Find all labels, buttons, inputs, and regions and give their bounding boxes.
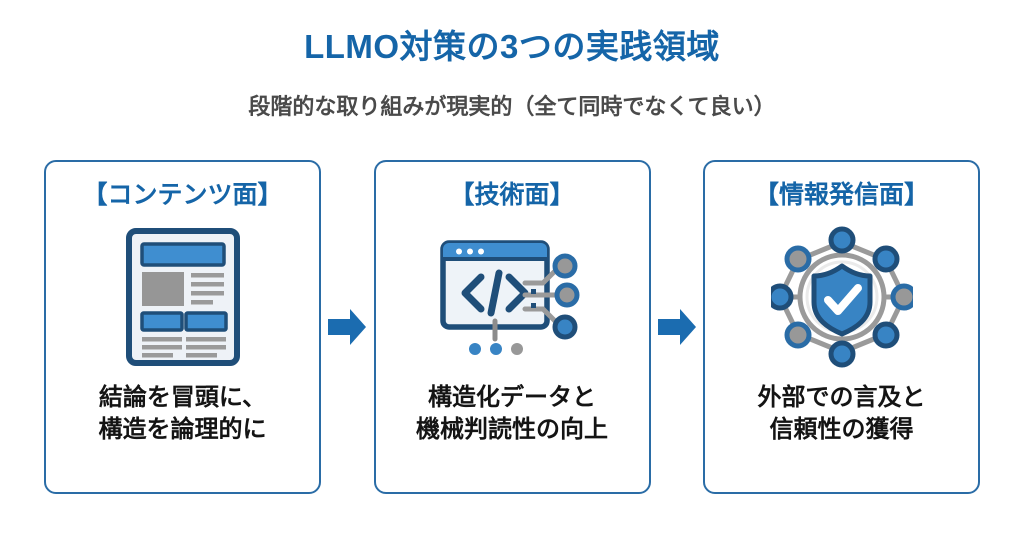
card-content-header: 【コンテンツ面】 xyxy=(82,180,282,210)
card-technical-caption: 構造化データと 機械判読性の向上 xyxy=(416,382,608,447)
card-content[interactable]: 【コンテンツ面】 xyxy=(44,160,321,494)
card-publicity-header: 【情報発信面】 xyxy=(754,180,929,210)
card-publicity[interactable]: 【情報発信面】 xyxy=(703,160,980,494)
page-title: LLMO対策の3つの実践領域 xyxy=(0,28,1024,66)
card-technical[interactable]: 【技術面】 xyxy=(374,160,651,494)
arrow-right-icon xyxy=(651,160,703,494)
slide-root: LLMO対策の3つの実践領域 段階的な取り組みが現実的（全て同時でなくて良い） … xyxy=(0,0,1024,541)
card-technical-header: 【技術面】 xyxy=(449,180,574,210)
page-subtitle: 段階的な取り組みが現実的（全て同時でなくて良い） xyxy=(0,94,1024,120)
cards-row: 【コンテンツ面】 xyxy=(44,160,980,494)
card-publicity-caption: 外部での言及と 信頼性の獲得 xyxy=(758,382,926,447)
document-layout-icon xyxy=(125,224,241,370)
code-window-network-icon xyxy=(439,224,585,370)
arrow-right-icon xyxy=(321,160,373,494)
shield-network-icon xyxy=(771,224,913,370)
card-content-caption: 結論を冒頭に、 構造を論理的に xyxy=(99,382,267,447)
